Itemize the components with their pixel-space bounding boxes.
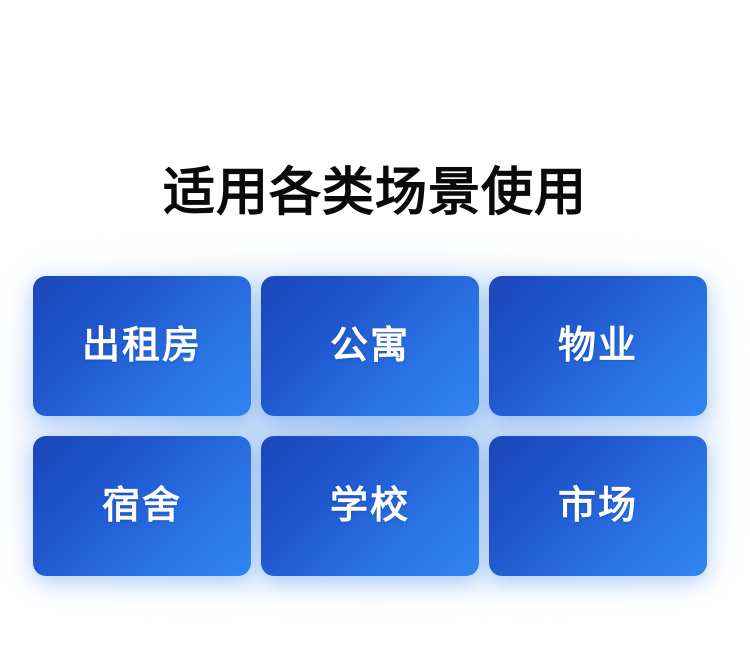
scene-card-market[interactable]: 市场 [489, 436, 707, 576]
page-title: 适用各类场景使用 [0, 157, 750, 229]
scene-card-label: 市场 [558, 487, 638, 525]
scene-showcase-page: 适用各类场景使用 出租房 公寓 物业 宿舍 学校 市场 [0, 0, 750, 649]
scene-card-label: 公寓 [330, 327, 410, 365]
scene-card-grid: 出租房 公寓 物业 宿舍 学校 市场 [33, 276, 707, 576]
scene-card-school[interactable]: 学校 [261, 436, 479, 576]
scene-card-label: 出租房 [82, 327, 202, 365]
scene-card-rental-house[interactable]: 出租房 [33, 276, 251, 416]
scene-card-property-management[interactable]: 物业 [489, 276, 707, 416]
scene-card-dormitory[interactable]: 宿舍 [33, 436, 251, 576]
scene-card-label: 物业 [558, 327, 638, 365]
scene-card-apartment[interactable]: 公寓 [261, 276, 479, 416]
scene-card-grid-wrapper: 出租房 公寓 物业 宿舍 学校 市场 [33, 276, 707, 576]
scene-card-label: 宿舍 [102, 487, 182, 525]
scene-card-label: 学校 [330, 487, 410, 525]
